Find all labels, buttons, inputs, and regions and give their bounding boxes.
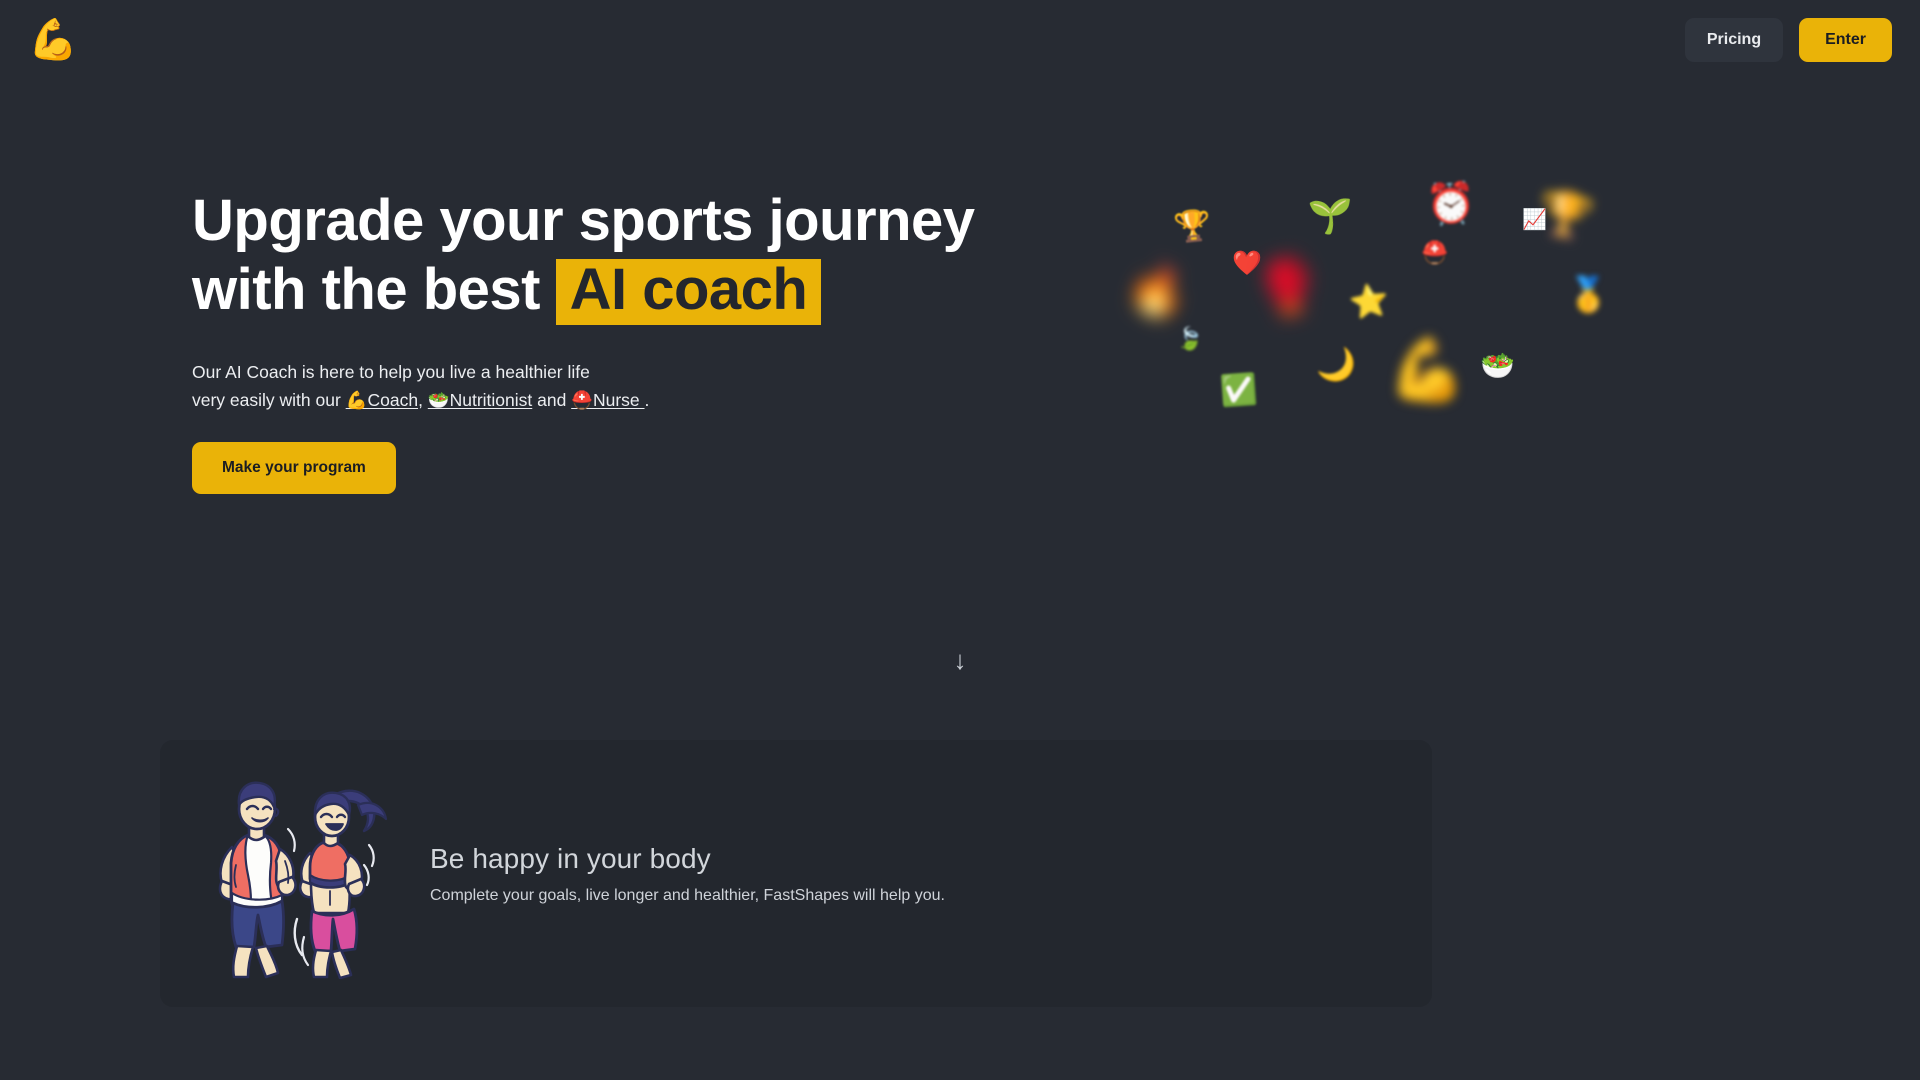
hero-subtitle-line-2-prefix: very easily with our — [192, 390, 346, 410]
hero-subtitle: Our AI Coach is here to help you live a … — [192, 359, 1092, 413]
seedling-emoji: 🌱 — [1304, 194, 1353, 236]
pricing-button[interactable]: Pricing — [1685, 18, 1783, 62]
feature-subtitle: Complete your goals, live longer and hea… — [430, 887, 945, 905]
make-your-program-button[interactable]: Make your program — [192, 442, 396, 494]
leaf-fluttering-emoji: 🍃 — [1176, 328, 1203, 350]
link-nurse[interactable]: ⛑️Nurse — [571, 390, 644, 410]
chart-increasing-emoji: 📈 — [1522, 210, 1547, 230]
rescue-helmet-emoji: ⛑️ — [1421, 242, 1448, 264]
feature-text: Be happy in your body Complete your goal… — [430, 843, 945, 905]
hero-title-line-1: Upgrade your sports journey — [192, 188, 975, 253]
sports-medal-emoji: 🥇 — [1567, 278, 1609, 312]
hero-subtitle-line-1: Our AI Coach is here to help you live a … — [192, 362, 590, 382]
red-heart-emoji: ❤️ — [1232, 252, 1262, 276]
crescent-moon-emoji: 🌙 — [1316, 348, 1356, 380]
enter-button[interactable]: Enter — [1799, 18, 1892, 62]
flexed-biceps-logo[interactable]: 💪 — [28, 20, 78, 60]
feature-card: Be happy in your body Complete your goal… — [160, 740, 1432, 1007]
header-actions: Pricing Enter — [1685, 18, 1892, 62]
fire-emoji: 🔥 — [1122, 259, 1195, 325]
check-mark-button-emoji: ✅ — [1219, 375, 1258, 408]
hero-title-line-2: with the best AI coach — [192, 259, 1092, 325]
feature-title: Be happy in your body — [430, 843, 945, 875]
star-emoji: ⭐ — [1347, 282, 1391, 319]
flexed-biceps-emoji: 💪 — [1388, 340, 1465, 402]
hero-subtitle-and: and — [532, 390, 571, 410]
hero-section: Upgrade your sports journey with the bes… — [192, 190, 1092, 494]
site-header: 💪 Pricing Enter — [0, 0, 1920, 80]
emoji-cloud: 🏆🌱⏰🏆📈❤️⛑️🔥🥊⭐🥇🍃🌙💪🥗✅ — [1100, 180, 1860, 500]
trophy-emoji: 🏆 — [1173, 210, 1213, 244]
running-couple-illustration — [198, 769, 388, 979]
green-salad-emoji: 🥗 — [1480, 352, 1515, 380]
link-coach[interactable]: 💪Coach — [346, 390, 418, 410]
hero-subtitle-period: . — [645, 390, 650, 410]
link-nutritionist[interactable]: 🥗Nutritionist — [428, 390, 532, 410]
scroll-down-arrow-icon[interactable]: ↓ — [0, 645, 1920, 676]
trophy-blur-emoji: 🏆 — [1535, 190, 1597, 243]
alarm-clock-emoji: ⏰ — [1425, 182, 1477, 225]
boxing-glove-emoji: 🥊 — [1251, 257, 1324, 319]
hero-title-highlight: AI coach — [556, 259, 822, 325]
hero-subtitle-comma: , — [418, 390, 428, 410]
hero-title: Upgrade your sports journey with the bes… — [192, 190, 1092, 325]
hero-title-line-2-prefix: with the best — [192, 257, 556, 322]
